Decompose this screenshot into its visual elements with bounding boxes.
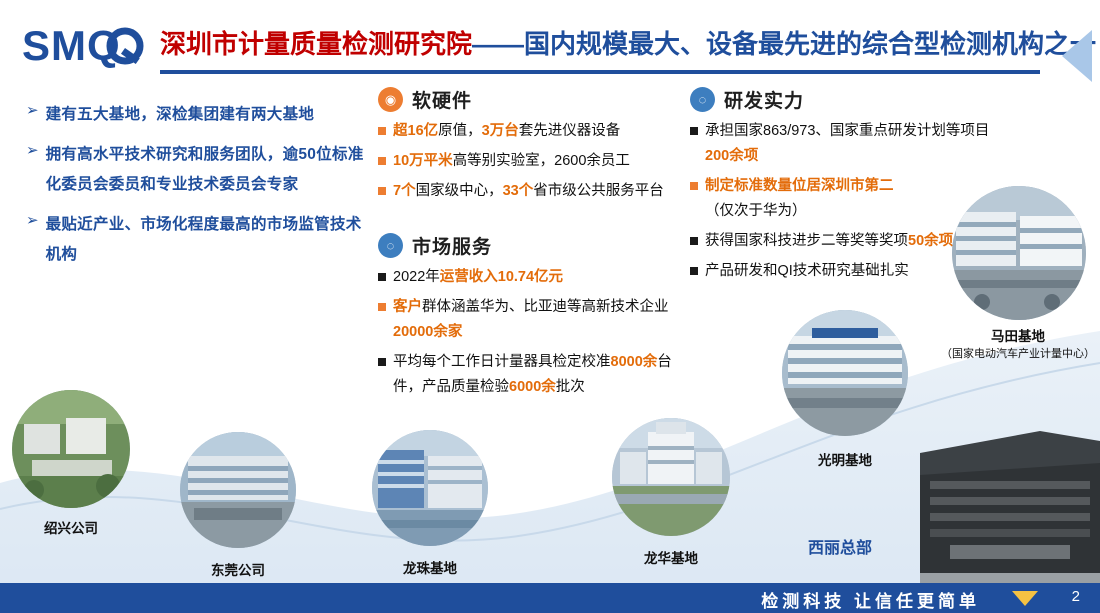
bullet-square-icon (378, 273, 386, 281)
bullet-square-icon (690, 237, 698, 245)
chat-icon: ◌ (378, 233, 403, 258)
list-item: 产品研发和QI技术研究基础扎实 (690, 259, 990, 284)
bullet-text: 获得国家科技进步二等奖等奖项50余项 (705, 229, 990, 254)
xili-headquarters-building (920, 423, 1100, 583)
list-item: ➢ 拥有高水平技术研究和服务团队，逾50位标准化委员会委员和专业技术委员会专家 (26, 140, 366, 200)
svg-text:SMQ: SMQ (22, 22, 121, 69)
bullet-square-icon (378, 303, 386, 311)
bullet-square-icon (378, 127, 386, 135)
bullet-square-icon (378, 358, 386, 366)
bullet-text: 平均每个工作日计量器具检定校准8000余台件，产品质量检验6000余批次 (393, 350, 698, 400)
page-number: 2 (1072, 588, 1080, 605)
photo-shaoxing (12, 390, 130, 508)
section-header: ◉ 软硬件 (378, 86, 678, 113)
section-title: 研发实力 (724, 86, 804, 113)
photo-longhua (612, 418, 730, 536)
photo-caption-longzhu: 龙珠基地 (372, 560, 488, 577)
title-divider (160, 70, 1040, 73)
bullet-square-icon (378, 157, 386, 165)
photo-caption-shaoxing: 绍兴公司 (12, 520, 130, 537)
list-item: 获得国家科技进步二等奖等奖项50余项 (690, 229, 990, 254)
rnd-bullet-list: 承担国家863/973、国家重点研发计划等项目200余项 制定标准数量位居深圳市… (690, 119, 990, 284)
photo-caption-guangming: 光明基地 (782, 452, 908, 469)
decorative-triangle-icon (1062, 30, 1092, 82)
left-item-label: 最贴近产业、市场化程度最高的市场监管技术机构 (46, 210, 366, 270)
bullet-text: 7个国家级中心，33个省市级公共服务平台 (393, 179, 678, 204)
footer-bar: 检测科技 让信任更简单 2 (0, 583, 1100, 613)
left-column: ➢ 建有五大基地，深检集团建有两大基地 ➢ 拥有高水平技术研究和服务团队，逾50… (26, 100, 366, 280)
list-item: 平均每个工作日计量器具检定校准8000余台件，产品质量检验6000余批次 (378, 350, 698, 400)
slide: SMQ 深圳市计量质量检测研究院——国内规模最大、设备最先进的综合型检测机构之一… (0, 0, 1100, 613)
list-item: 承担国家863/973、国家重点研发计划等项目200余项 (690, 119, 990, 169)
bullet-square-icon (378, 187, 386, 195)
list-item: 2022年运营收入10.74亿元 (378, 265, 698, 290)
photo-guangming (782, 310, 908, 436)
footer-triangle-icon (1012, 591, 1038, 606)
chevron-right-icon: ➢ (26, 210, 39, 232)
smq-logo: SMQ (22, 18, 144, 74)
target-icon: ◉ (378, 87, 403, 112)
list-item: 7个国家级中心，33个省市级公共服务平台 (378, 179, 678, 204)
photo-matian (952, 186, 1086, 320)
chevron-right-icon: ➢ (26, 100, 39, 122)
section-market-service: ◌ 市场服务 2022年运营收入10.74亿元 客户群体涵盖华为、比亚迪等高新技… (378, 232, 698, 405)
photo-longzhu (372, 430, 488, 546)
bullet-text: 2022年运营收入10.74亿元 (393, 265, 698, 290)
page-title: 深圳市计量质量检测研究院——国内规模最大、设备最先进的综合型检测机构之一 (160, 24, 1040, 68)
bullet-text: 产品研发和QI技术研究基础扎实 (705, 259, 990, 284)
bullet-square-icon (690, 127, 698, 135)
left-item-label: 建有五大基地，深检集团建有两大基地 (46, 100, 315, 130)
page-title-sub: ——国内规模最大、设备最先进的综合型检测机构之一 (472, 29, 1096, 59)
photo-dongguan (180, 432, 296, 548)
photo-caption-xili: 西丽总部 (780, 540, 900, 557)
section-rnd-strength: ◌ 研发实力 承担国家863/973、国家重点研发计划等项目200余项 制定标准… (690, 86, 990, 289)
list-item: 制定标准数量位居深圳市第二（仅次于华为） (690, 174, 990, 224)
chat-icon: ◌ (690, 87, 715, 112)
bullet-square-icon (690, 267, 698, 275)
photo-caption-dongguan: 东莞公司 (180, 562, 296, 579)
page-title-main: 深圳市计量质量检测研究院 (160, 29, 472, 59)
list-item: ➢ 建有五大基地，深检集团建有两大基地 (26, 100, 366, 130)
photo-caption-matian-sub: （国家电动汽车产业计量中心） (918, 346, 1100, 363)
list-item: 客户群体涵盖华为、比亚迪等高新技术企业20000余家 (378, 295, 698, 345)
section-header: ◌ 市场服务 (378, 232, 698, 259)
section-header: ◌ 研发实力 (690, 86, 990, 113)
bullet-text: 承担国家863/973、国家重点研发计划等项目200余项 (705, 119, 990, 169)
list-item: 超16亿原值，3万台套先进仪器设备 (378, 119, 678, 144)
section-hardware: ◉ 软硬件 超16亿原值，3万台套先进仪器设备 10万平米高等别实验室，2600… (378, 86, 678, 209)
bullet-text: 超16亿原值，3万台套先进仪器设备 (393, 119, 678, 144)
bullet-square-icon (690, 182, 698, 190)
footer-slogan: 检测科技 让信任更简单 (761, 587, 980, 612)
photo-caption-matian: 马田基地 (930, 328, 1100, 345)
section-title: 软硬件 (412, 86, 472, 113)
list-item: 10万平米高等别实验室，2600余员工 (378, 149, 678, 174)
photo-caption-longhua: 龙华基地 (612, 550, 730, 567)
bullet-text: 客户群体涵盖华为、比亚迪等高新技术企业20000余家 (393, 295, 698, 345)
hardware-bullet-list: 超16亿原值，3万台套先进仪器设备 10万平米高等别实验室，2600余员工 7个… (378, 119, 678, 204)
section-title: 市场服务 (412, 232, 492, 259)
list-item: ➢ 最贴近产业、市场化程度最高的市场监管技术机构 (26, 210, 366, 270)
chevron-right-icon: ➢ (26, 140, 39, 162)
bullet-text: 10万平米高等别实验室，2600余员工 (393, 149, 678, 174)
bullet-text: 制定标准数量位居深圳市第二（仅次于华为） (705, 174, 990, 224)
market-bullet-list: 2022年运营收入10.74亿元 客户群体涵盖华为、比亚迪等高新技术企业2000… (378, 265, 698, 400)
left-item-label: 拥有高水平技术研究和服务团队，逾50位标准化委员会委员和专业技术委员会专家 (46, 140, 366, 200)
